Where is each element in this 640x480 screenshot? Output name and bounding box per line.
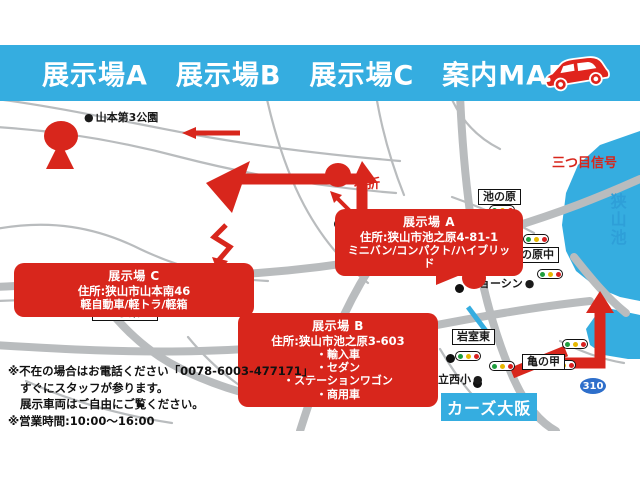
traffic-signal-ikenoharanaka	[523, 234, 549, 244]
note-line-1: ※不在の場合はお電話ください「0078-6003-477171」	[8, 363, 308, 380]
traffic-signal-post	[489, 361, 515, 371]
poi-dot-joshin	[455, 284, 464, 293]
route-shield-310: 310	[580, 378, 606, 394]
balloon-b-address: 住所:狭山市池之原3-603	[246, 334, 430, 348]
note-line-4: ※営業時間:10:00～16:00	[8, 413, 308, 430]
traffic-signal-iwamuro	[455, 351, 481, 361]
poi-dot-post-office	[446, 354, 455, 363]
map-flyer: 展示場A 展示場B 展示場C 案内MAP	[0, 0, 640, 480]
balloon-b-title: 展示場 B	[246, 319, 430, 334]
balloon-a-title: 展示場 A	[343, 215, 515, 230]
label-sayama-pond: 狭山池	[608, 193, 626, 247]
info-balloon-showroom-a[interactable]: 展示場 A 住所:狭山市池之原4-81-1 ミニバン/コンパクト/ハイブリッド	[335, 209, 523, 276]
label-yamamoto-park: 山本第3公園	[84, 112, 158, 124]
route-arrowhead-west-small	[182, 127, 196, 139]
route-zigzag	[214, 225, 230, 261]
balloon-a-address: 住所:狭山市池之原4-81-1	[343, 230, 515, 244]
balloon-c-tail	[46, 141, 74, 169]
note-line-2: すぐにスタッフが参ります。	[8, 380, 308, 397]
marker-showroom-a[interactable]	[325, 163, 351, 187]
traffic-signal-kamenoko-north	[562, 339, 588, 349]
header-banner: 展示場A 展示場B 展示場C 案内MAP	[0, 45, 640, 101]
label-ikenohara: 池の原	[478, 189, 521, 205]
red-car-icon	[538, 50, 614, 96]
balloon-c-categories: 軽自動車/軽トラ/軽箱	[22, 298, 246, 311]
label-kamenoko: 亀の甲	[522, 354, 565, 370]
balloon-a-categories: ミニバン/コンパクト/ハイブリッド	[343, 244, 515, 271]
label-cars-osaka[interactable]: カーズ大阪	[441, 393, 537, 421]
balloon-c-address: 住所:狭山市山本南46	[22, 284, 246, 298]
traffic-signal-east	[537, 269, 563, 279]
label-third-signal: 三つ目信号	[552, 157, 617, 171]
info-balloon-showroom-c[interactable]: 展示場 C 住所:狭山市山本南46 軽自動車/軽トラ/軽箱	[14, 263, 254, 317]
label-iwamuro-higashi: 岩室東	[452, 329, 495, 345]
page-title: 展示場A 展示場B 展示場C 案内MAP	[42, 54, 569, 93]
balloon-c-title: 展示場 C	[22, 269, 246, 284]
note-line-3: 展示車両はご自由にご覧ください。	[8, 396, 308, 413]
footer-notes: ※不在の場合はお電話ください「0078-6003-477171」 すぐにスタッフ…	[8, 363, 308, 430]
balloon-b-item-0: ・輸入車	[246, 348, 430, 361]
balloon-a-tail	[352, 161, 378, 183]
